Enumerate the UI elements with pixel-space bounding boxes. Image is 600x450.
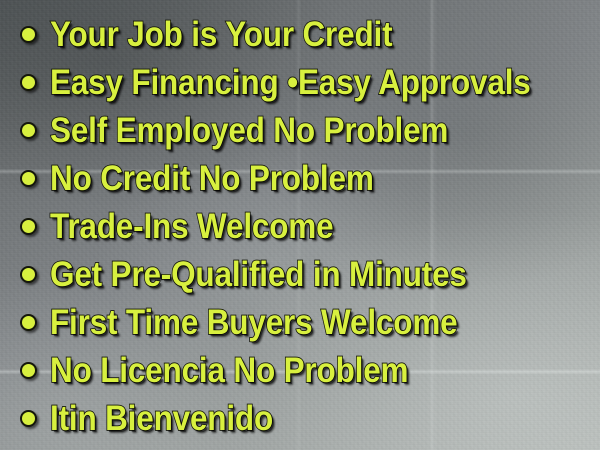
advertisement-graphic: Your Job is Your Credit Easy Financing •… [0, 0, 600, 450]
list-item: No Licencia No Problem [0, 346, 600, 394]
list-item: First Time Buyers Welcome [0, 298, 600, 346]
list-item: Get Pre-Qualified in Minutes [0, 250, 600, 298]
bullet-text: Trade-Ins Welcome [50, 209, 333, 244]
list-item: Your Job is Your Credit [0, 10, 600, 58]
bullet-dot-icon [20, 218, 37, 235]
bullet-dot-icon [20, 122, 37, 139]
bullet-text: Easy Financing •Easy Approvals [50, 65, 531, 100]
list-item: Self Employed No Problem [0, 106, 600, 154]
bullet-dot-icon [20, 362, 37, 379]
bullet-dot-icon [20, 170, 37, 187]
bullet-text: First Time Buyers Welcome [50, 305, 458, 340]
bullet-text: No Licencia No Problem [50, 353, 408, 388]
bullet-dot-icon [20, 266, 37, 283]
bullet-dot-icon [20, 74, 37, 91]
bullet-dot-icon [20, 314, 37, 331]
bullet-text: Itin Bienvenido [50, 401, 273, 436]
bullet-text: Get Pre-Qualified in Minutes [50, 257, 467, 292]
bullet-dot-icon [20, 410, 37, 427]
bullet-text: Your Job is Your Credit [50, 17, 392, 52]
list-item: Itin Bienvenido [0, 394, 600, 442]
bullet-text: No Credit No Problem [50, 161, 374, 196]
bullet-text: Self Employed No Problem [50, 113, 448, 148]
benefits-bullet-list: Your Job is Your Credit Easy Financing •… [0, 0, 600, 450]
bullet-dot-icon [20, 26, 37, 43]
list-item: Trade-Ins Welcome [0, 202, 600, 250]
list-item: No Credit No Problem [0, 154, 600, 202]
list-item: Easy Financing •Easy Approvals [0, 58, 600, 106]
